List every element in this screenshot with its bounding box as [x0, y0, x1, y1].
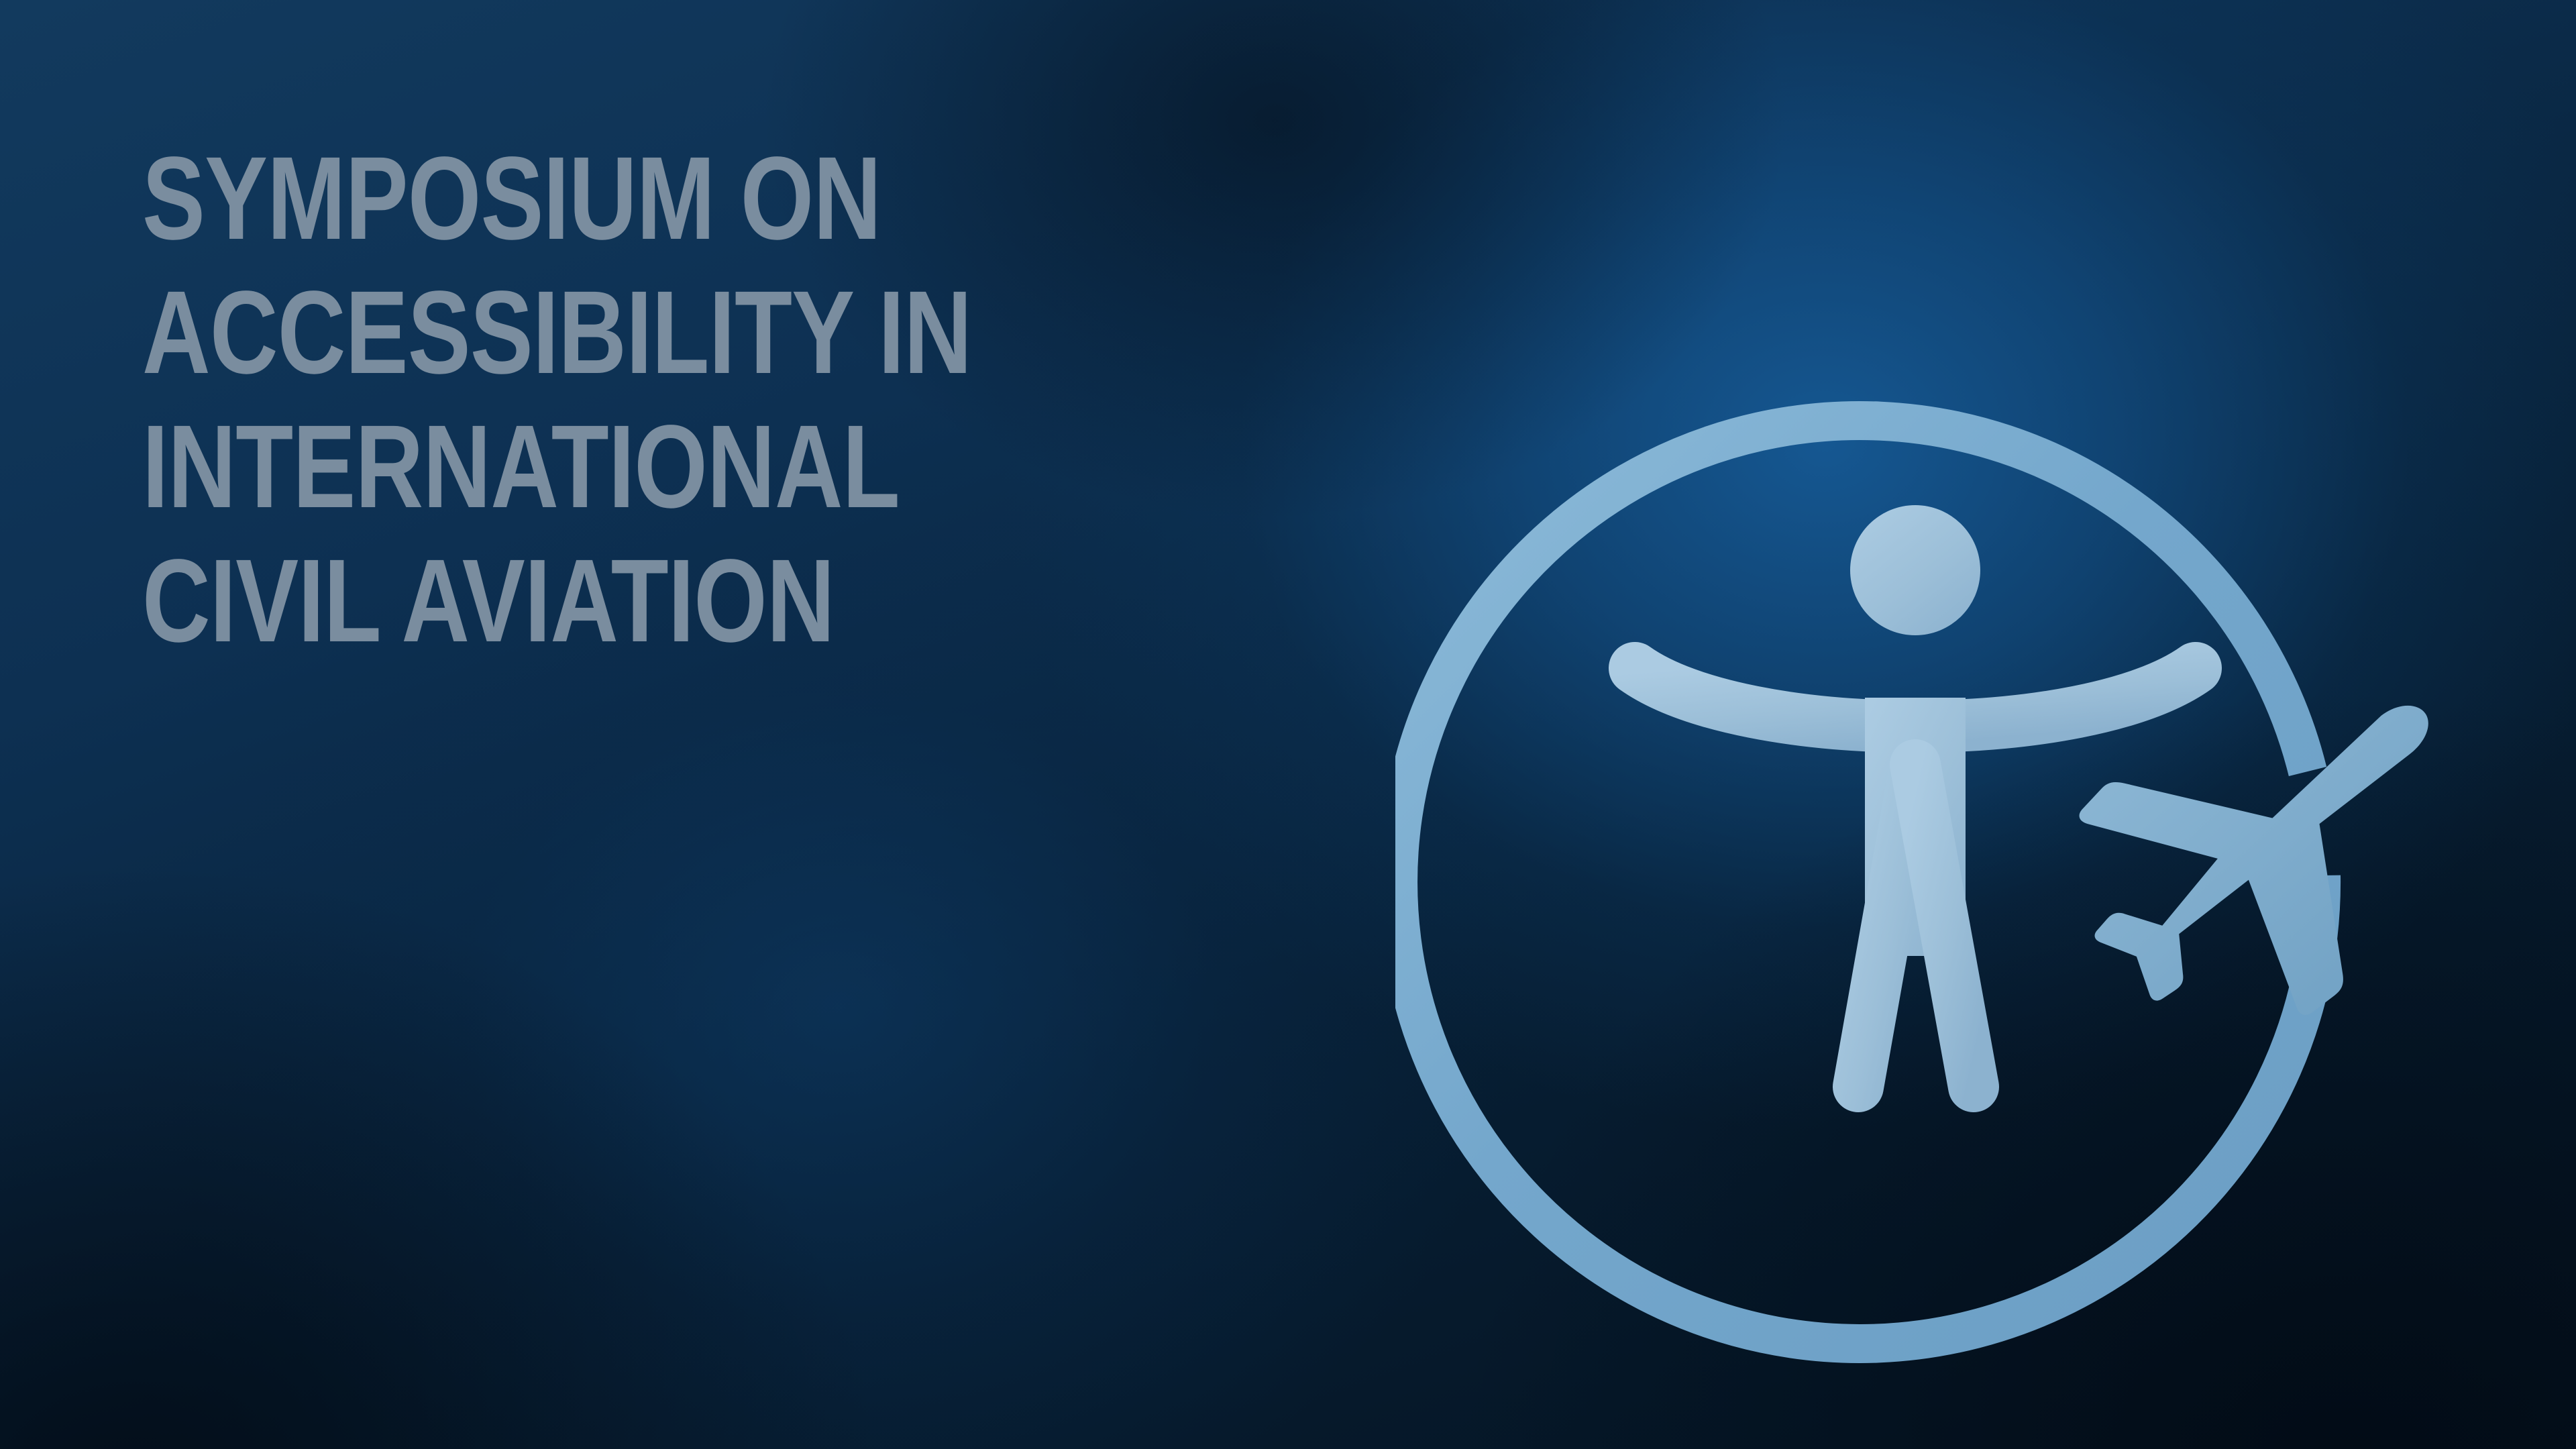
title-line-2: ACCESSIBILITY IN — [142, 266, 1334, 400]
accessibility-aviation-emblem — [1395, 349, 2442, 1382]
slide-canvas: SYMPOSIUM ON ACCESSIBILITY IN INTERNATIO… — [0, 0, 2576, 1449]
title-line-4: CIVIL AVIATION — [142, 534, 1334, 668]
airplane-icon — [2080, 706, 2428, 1015]
title-line-1: SYMPOSIUM ON — [142, 131, 1334, 266]
title-line-3: INTERNATIONAL — [142, 400, 1334, 534]
